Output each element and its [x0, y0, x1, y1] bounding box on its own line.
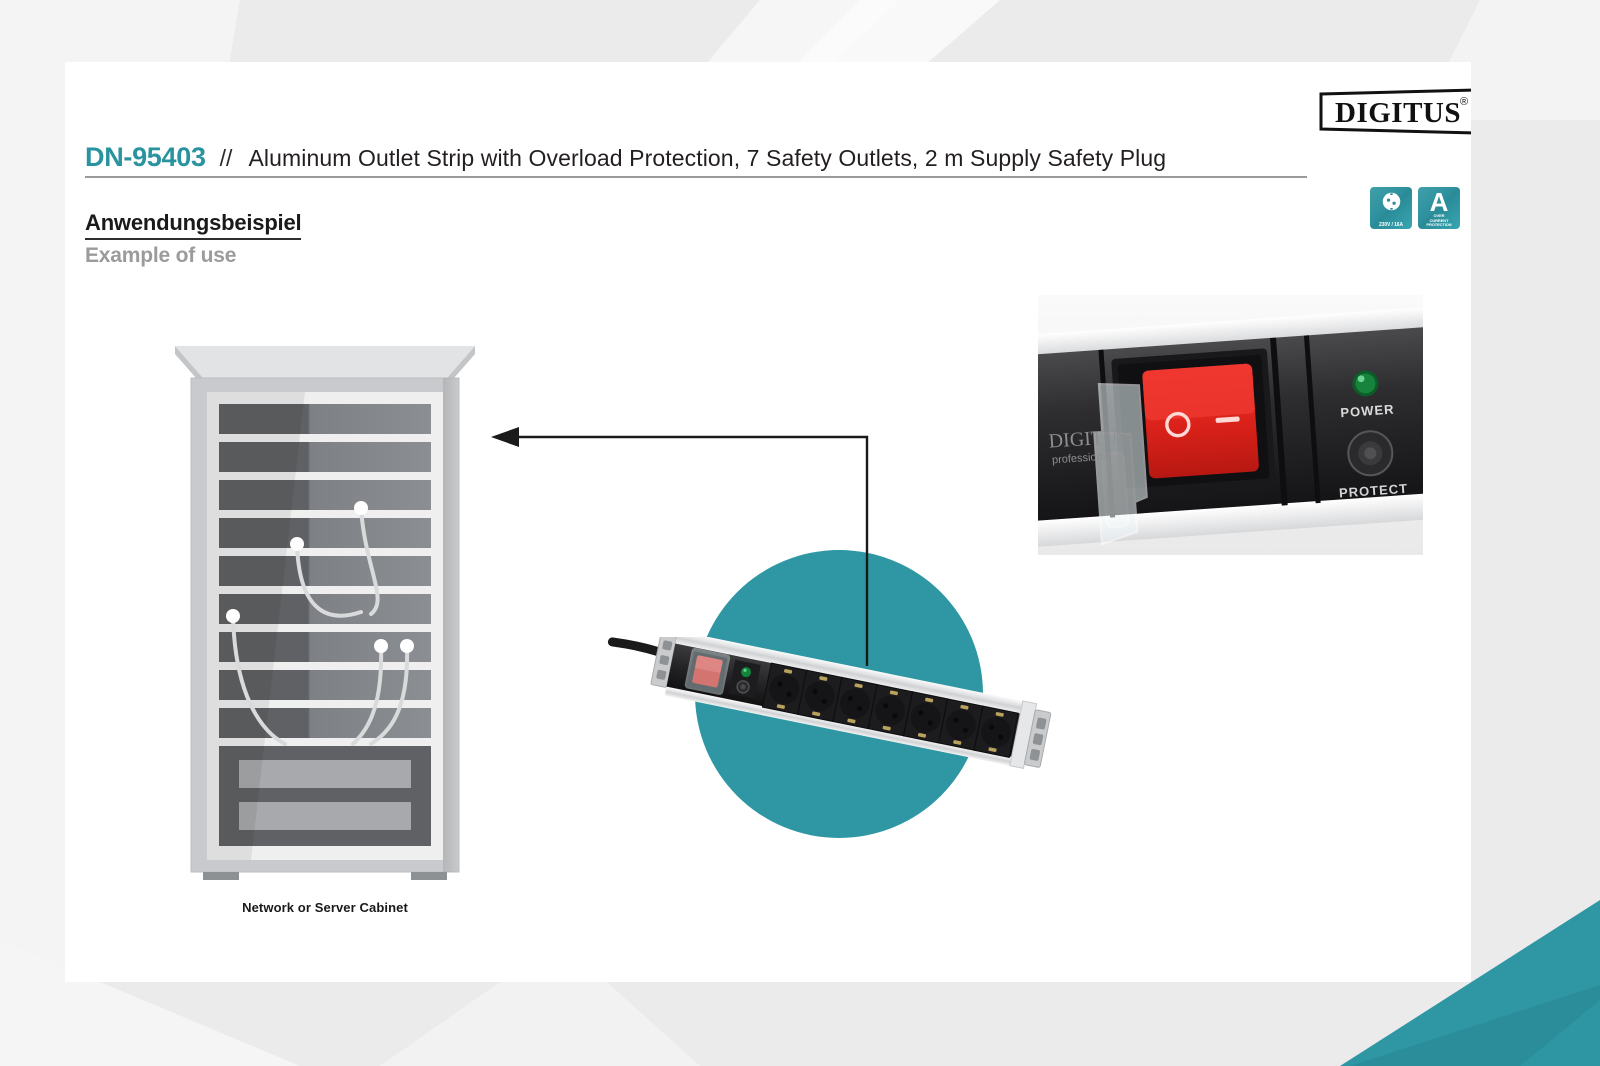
server-cabinet-illustration — [175, 332, 475, 892]
content-card: DIGITUS ® DN-95403//Aluminum Outlet Stri… — [65, 62, 1471, 982]
voltage-current-badge: 230V / 16A — [1370, 187, 1412, 229]
page-title: Aluminum Outlet Strip with Overload Prot… — [248, 145, 1166, 172]
over-current-protection-badge: A OVER CURRENT PROTECTION — [1418, 187, 1460, 229]
section-heading-en: Example of use — [85, 244, 236, 268]
letter-a-icon: A — [1430, 189, 1449, 215]
badge-caption-multiline: OVER CURRENT PROTECTION — [1418, 214, 1460, 228]
product-sku: DN-95403 — [85, 142, 206, 173]
cabinet-caption: Network or Server Cabinet — [175, 900, 475, 915]
digitus-logo: DIGITUS ® — [1317, 88, 1471, 135]
badge-caption-l3: PROTECTION — [1426, 222, 1451, 227]
outlet-strip-product-image — [590, 637, 1090, 817]
callout-arrow — [485, 422, 905, 672]
badge-caption: 230V / 16A — [1370, 223, 1412, 228]
svg-text:DIGITUS: DIGITUS — [1335, 97, 1461, 129]
product-detail-photo: DIGITUS professional POWER PROTECT — [1038, 295, 1423, 555]
svg-text:®: ® — [1460, 96, 1468, 108]
title-separator: // — [220, 145, 233, 172]
schuko-socket-icon — [1381, 191, 1402, 217]
product-title-row: DN-95403//Aluminum Outlet Strip with Ove… — [85, 142, 1307, 178]
feature-badges: 230V / 16A A OVER CURRENT PROTECTION — [1370, 187, 1460, 229]
section-heading-de: Anwendungsbeispiel — [85, 210, 301, 240]
